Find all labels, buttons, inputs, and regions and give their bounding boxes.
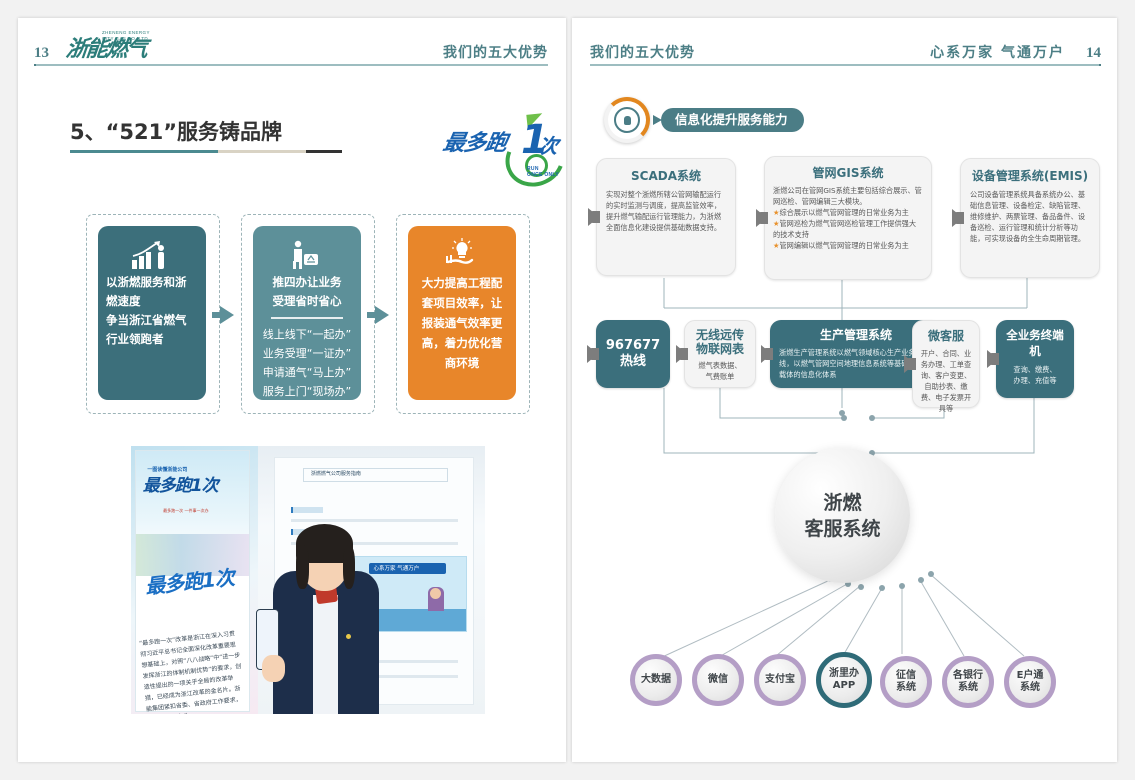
flow-card-2-divider [271,317,343,319]
card-tab-icon [904,355,915,373]
gis-title: 管网GIS系统 [773,165,923,181]
iot-meter-body: 燃气表数据、 气费账单 [690,360,750,382]
card-tab-icon [676,345,687,363]
left-page: 13 ZHENENG ENERGYCITY GAS CO. LTD 浙能燃气 我… [18,18,566,762]
left-page-number: 13 [34,46,49,66]
flow-card-2[interactable]: 推四办让业务 受理省时省心 线上线下“一起办” 业务受理“一证办” 申请通气“马… [253,226,361,400]
flow-card-3[interactable]: 大力提高工程配 套项目效率，让 报装通气效率更 高，着力优化营 商环境 [408,226,516,400]
channel-node-bigdata[interactable]: 大数据 [630,654,682,706]
gis-bullet-1: ★综合展示以燃气管网管理的日常业务为主 [773,207,923,218]
header-divider [36,64,548,66]
gis-bullet-2: ★管网巡检为燃气管网巡检管理工作提供强大的技术支持 [773,218,923,240]
photo-banner-headline: 最多跑1次 [143,477,218,495]
channel-node-wechat[interactable]: 微信 [692,654,744,706]
emis-title: 设备管理系统(EMIS) [970,168,1090,184]
photo-person-hand [262,655,285,683]
terminal-title: 全业务终端机 [1001,327,1069,359]
photo-person-hair-right [343,545,356,589]
header-divider [590,64,1099,66]
photo-person-badge [346,634,351,639]
emis-body: 公司设备管理系统具备系统办公、基础信息管理、设备检定、缺陷管理、维修维护、两票管… [970,189,1090,244]
channel-node-alipay[interactable]: 支付宝 [754,654,806,706]
event-photo: 一图读懂浙能公司 最多跑1次 最多跑一次 一件事一次办 最多跑1次 “最多跑一次… [131,446,485,714]
wechat-service-title: 微客服 [919,328,973,344]
card-tab-icon [756,209,767,227]
channel-label: 浙里办 APP [829,668,859,692]
photo-board-slogan: 心系万家 气通万户 [373,564,419,574]
system-card-hotline[interactable]: 967677 热线 [596,320,670,388]
system-card-iot-meter[interactable]: 无线远传 物联网表 燃气表数据、 气费账单 [684,320,756,388]
photo-banner-paragraph: “最多跑一次”改革是浙江在深入习贯彻习近平总书记全面深化改革重要思想基础上，对照… [138,628,246,714]
flow-card-3-title: 大力提高工程配 套项目效率，让 报装通气效率更 高，着力优化营 商环境 [416,273,508,373]
bulb-hand-icon [416,226,508,273]
banner-label: 信息化提升服务能力 [661,108,804,132]
gis-bullet-3: ★管网编辑以燃气管网管理的日常业务为主 [773,240,923,251]
photo-board-title: 浙燃燃气公司服务指南 [311,469,361,479]
photo-banner-top-text: 一图读懂浙能公司 [147,467,187,473]
hub-label: 浙燃客服系统 [804,490,880,542]
wechat-service-body: 开户、合同、业务办理、工单查询、客户变更、自助抄表、缴费、电子发票开具等 [919,348,973,414]
card-tab-icon [761,345,772,363]
right-page-header: 我们的五大优势 心系万家 气通万户 14 [572,18,1117,70]
terminal-body: 查询、缴费、 办理、充值等 [1001,364,1069,386]
iot-meter-title: 无线远传 物联网表 [690,328,750,356]
gis-body: 浙燃公司在管网GIS系统主要包括综合展示、管网巡检、管网编辑三大模块。 [773,185,923,207]
right-header-left-title: 我们的五大优势 [590,46,695,60]
photo-person-shirt [313,595,338,714]
system-card-scada[interactable]: SCADA系统 实现对整个浙燃所辖公管网输配运行的实时监测与调度，提高监管效率，… [596,158,736,276]
channel-label: 征信 系统 [896,670,916,694]
touch-target-icon [604,97,650,143]
channel-label: E户通 系统 [1017,670,1044,694]
customer-service-hub: 浙燃客服系统 [775,448,910,583]
service-desk-icon [261,226,353,273]
zheneng-logo: ZHENENG ENERGYCITY GAS CO. LTD 浙能燃气 [66,30,176,66]
card-tab-icon [987,350,998,368]
left-page-header: 13 ZHENENG ENERGYCITY GAS CO. LTD 浙能燃气 我… [18,18,566,70]
system-card-wechat-service[interactable]: 微客服 开户、合同、业务办理、工单查询、客户变更、自助抄表、缴费、电子发票开具等 [912,320,980,408]
hotline-title: 967677 热线 [606,338,660,370]
channel-node-ehutong[interactable]: E户通 系统 [1004,656,1056,708]
channel-label: 各银行 系统 [953,670,983,694]
title-underline-dark [306,150,342,153]
right-page: 我们的五大优势 心系万家 气通万户 14 [572,18,1117,762]
title-underline-teal [70,150,218,153]
flow-card-1-title: 以浙燃服务和浙 燃速度 争当浙江省燃气 行业领跑者 [106,273,198,349]
flow-arrow-1 [220,306,234,324]
system-card-emis[interactable]: 设备管理系统(EMIS) 公司设备管理系统具备系统办公、基础信息管理、设备检定、… [960,158,1100,278]
page-title: 5、“521”服务铸品牌 [70,118,282,146]
right-page-number: 14 [1086,46,1101,66]
logo-chinese-text: 浙能燃气 [65,36,148,62]
flow-arrow-2 [375,306,389,324]
channel-label: 支付宝 [765,674,795,686]
slide-pair-page: 13 ZHENENG ENERGYCITY GAS CO. LTD 浙能燃气 我… [0,0,1135,780]
card-tab-icon [952,209,963,227]
run-logo-en: RUNONCE ONLY [527,166,559,178]
channel-node-banks[interactable]: 各银行 系统 [942,656,994,708]
channel-node-zhelibanapp[interactable]: 浙里办 APP [816,652,872,708]
photo-banner-left: 一图读懂浙能公司 最多跑1次 最多跑一次 一件事一次办 最多跑1次 “最多跑一次… [135,450,250,712]
right-header-slogan: 心系万家 气通万户 [930,46,1065,60]
title-underline-beige [218,150,306,153]
system-card-gis[interactable]: 管网GIS系统 浙燃公司在管网GIS系统主要包括综合展示、管网巡检、管网编辑三大… [764,156,932,280]
channel-node-credit[interactable]: 征信 系统 [880,656,932,708]
scada-title: SCADA系统 [606,168,726,184]
photo-board-tag-1 [291,507,323,513]
service-flow: 以浙燃服务和浙 燃速度 争当浙江省燃气 行业领跑者 推四办让业务 受理省时省心 [86,214,536,414]
system-card-terminal[interactable]: 全业务终端机 查询、缴费、 办理、充值等 [996,320,1074,398]
section-banner: 信息化提升服务能力 [604,104,804,136]
growth-chart-icon [106,226,198,273]
channel-label: 大数据 [641,674,671,686]
flow-card-2-body: 线上线下“一起办” 业务受理“一证办” 申请通气“马上办” 服务上门“现场办” [261,325,353,401]
photo-person [273,516,379,714]
channel-label: 微信 [708,674,728,686]
flow-card-1[interactable]: 以浙燃服务和浙 燃速度 争当浙江省燃气 行业领跑者 [98,226,206,400]
scada-body: 实现对整个浙燃所辖公管网输配运行的实时监测与调度，提高监管效率，提升燃气输配运行… [606,189,726,233]
card-tab-icon [588,208,599,226]
photo-banner-subtext: 最多跑一次 一件事一次办 [163,508,208,513]
run-once-only-logo: 最多跑 1 次 RUNONCE ONLY [443,118,563,180]
photo-person-hair-left [296,545,309,589]
left-header-title: 我们的五大优势 [443,46,548,60]
run-logo-cn: 最多跑 [441,132,508,156]
production-title: 生产管理系统 [779,327,933,343]
flow-card-2-title: 推四办让业务 受理省时省心 [261,273,353,311]
card-tab-icon [587,345,598,363]
